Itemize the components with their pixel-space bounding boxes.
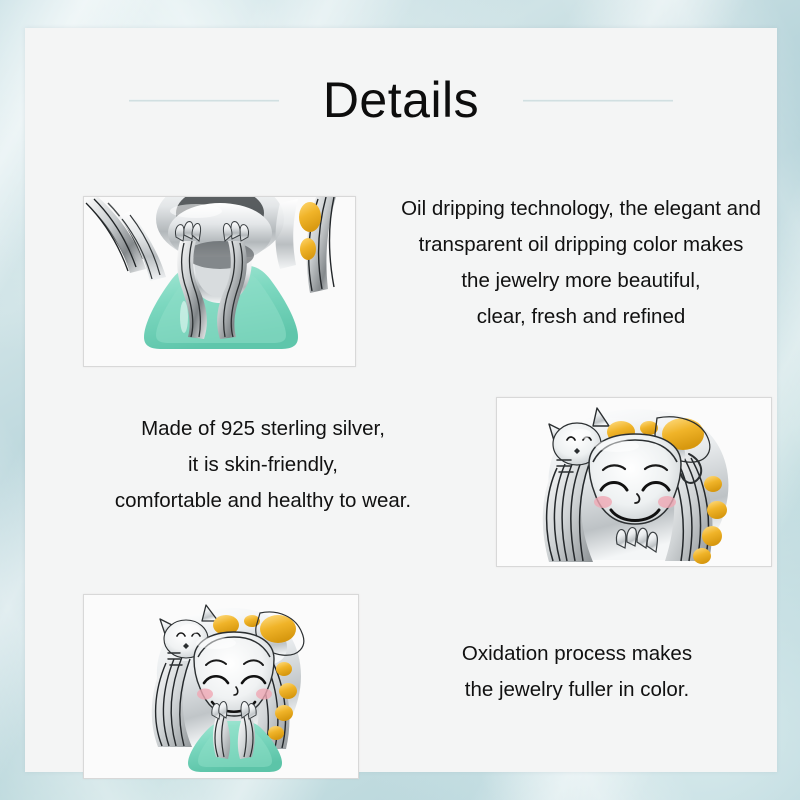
charm-full-view-girl-with-cat-image — [84, 595, 358, 778]
product-image-frame-2[interactable] — [496, 397, 772, 567]
section-2-text: Made of 925 sterling silver, it is skin-… — [63, 411, 463, 519]
section-2-line-3: comfortable and healthy to wear. — [63, 483, 463, 519]
section-2-line-2: it is skin-friendly, — [63, 447, 463, 483]
product-image-frame-3[interactable] — [83, 594, 359, 779]
charm-face-cat-gold-accents-image — [497, 398, 771, 566]
section-3-text: Oxidation process makes the jewelry full… — [417, 636, 737, 708]
product-detail-page: Details — [0, 0, 800, 800]
section-1-line-4: clear, fresh and refined — [355, 299, 800, 335]
charm-closeup-hands-mint-base-image — [84, 197, 355, 366]
section-2-line-1: Made of 925 sterling silver, — [63, 411, 463, 447]
section-3-line-2: the jewelry fuller in color. — [417, 672, 737, 708]
page-header: Details — [25, 64, 777, 136]
section-1-line-2: transparent oil dripping color makes — [355, 227, 800, 263]
section-1-line-1: Oil dripping technology, the elegant and — [355, 191, 800, 227]
section-1-text: Oil dripping technology, the elegant and… — [355, 191, 800, 335]
page-title: Details — [323, 75, 479, 125]
header-rule-left — [129, 99, 279, 102]
section-3-line-1: Oxidation process makes — [417, 636, 737, 672]
header-rule-right — [523, 99, 673, 102]
content-card: Details — [25, 28, 777, 772]
section-1-line-3: the jewelry more beautiful, — [355, 263, 800, 299]
product-image-frame-1[interactable] — [83, 196, 356, 367]
